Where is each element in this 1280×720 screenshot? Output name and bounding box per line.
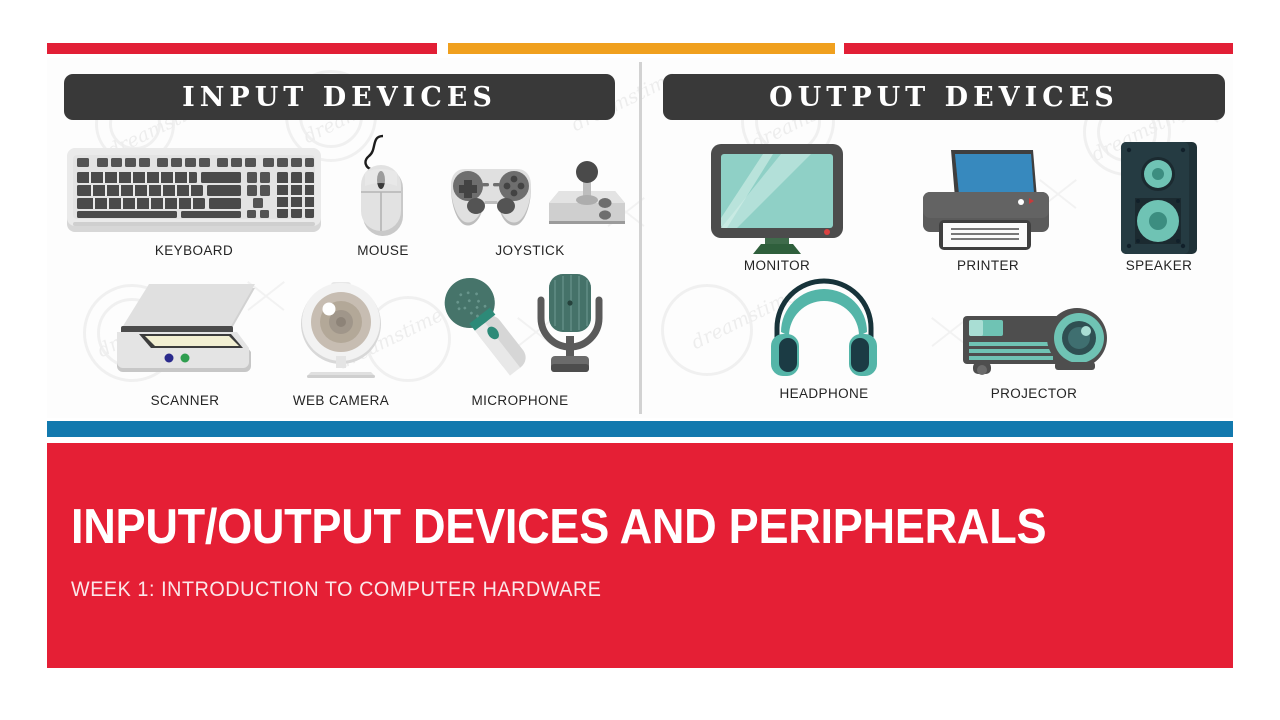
printer-icon: [917, 144, 1059, 256]
accent-segment-amber: [448, 43, 835, 54]
monitor-label: MONITOR: [699, 258, 855, 273]
web-camera-label: WEB CAMERA: [271, 393, 411, 408]
input-panel-title: INPUT DEVICES: [182, 82, 497, 113]
mouse-label: MOUSE: [335, 243, 431, 258]
panel-divider: [639, 62, 642, 414]
blue-accent-bar: [47, 421, 1233, 437]
microphone-label: MICROPHONE: [429, 393, 611, 408]
speaker-label: SPEAKER: [1089, 258, 1229, 273]
top-accent-bar: [47, 43, 1233, 54]
projector-label: PROJECTOR: [947, 386, 1121, 401]
webcam-icon: [289, 276, 393, 380]
page-title: INPUT/OUTPUT DEVICES AND PERIPHERALS: [71, 499, 1046, 555]
monitor-icon: [707, 140, 847, 256]
output-panel-header: OUTPUT DEVICES: [663, 74, 1225, 120]
accent-gap-left: [437, 43, 448, 54]
scanner-icon: [105, 274, 265, 378]
microphone-icon: [429, 270, 611, 382]
page-subtitle: WEEK 1: INTRODUCTION TO COMPUTER HARDWAR…: [71, 578, 602, 602]
input-devices-panel: INPUT DEVICES: [47, 58, 637, 418]
joystick-icon: [435, 158, 625, 240]
scanner-label: SCANNER: [105, 393, 265, 408]
projector-icon: [955, 298, 1113, 380]
title-block: INPUT/OUTPUT DEVICES AND PERIPHERALS WEE…: [47, 443, 1233, 668]
output-devices-panel: OUTPUT DEVICES MONITOR: [647, 58, 1233, 418]
output-panel-title: OUTPUT DEVICES: [769, 82, 1119, 113]
printer-label: PRINTER: [909, 258, 1067, 273]
accent-gap-right: [835, 43, 844, 54]
keyboard-icon: [65, 146, 323, 238]
devices-figure: dreamstime dreamstime dreamstime dreamst…: [47, 58, 1233, 418]
headphone-label: HEADPHONE: [745, 386, 903, 401]
joystick-label: JOYSTICK: [445, 243, 615, 258]
input-panel-header: INPUT DEVICES: [64, 74, 615, 120]
accent-segment-red-left: [47, 43, 437, 54]
accent-segment-red-right: [844, 43, 1233, 54]
keyboard-label: KEYBOARD: [65, 243, 323, 258]
mouse-icon: [347, 130, 417, 242]
slide-canvas: dreamstime dreamstime dreamstime dreamst…: [0, 0, 1280, 720]
headphone-icon: [765, 272, 883, 382]
speaker-icon: [1113, 138, 1205, 258]
